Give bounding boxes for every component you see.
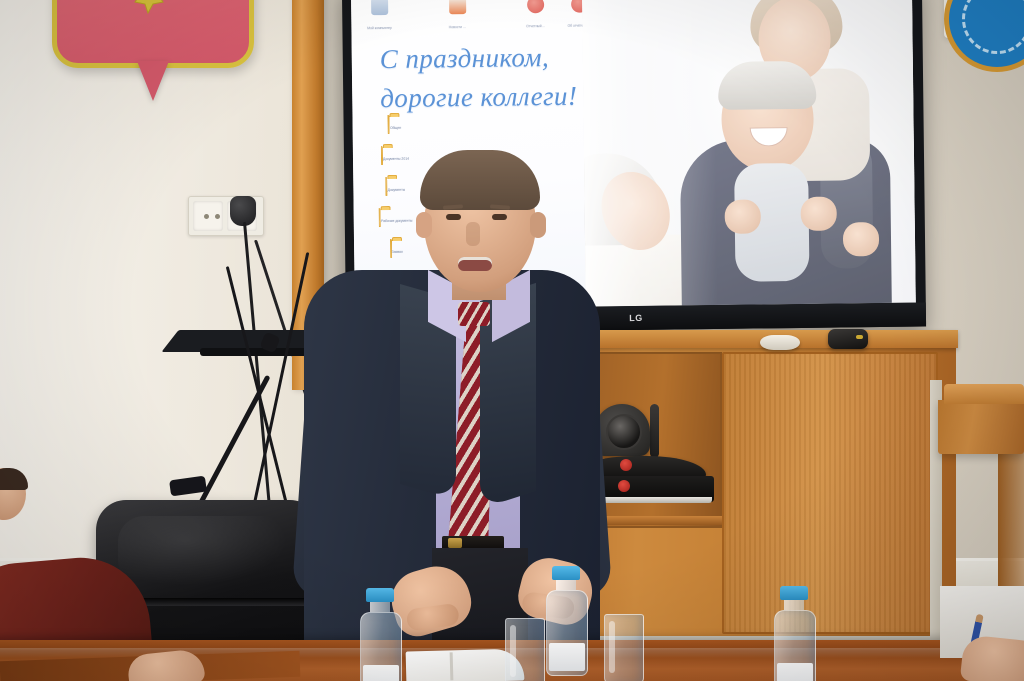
black-remote-control[interactable] xyxy=(828,329,868,349)
bottle-label xyxy=(549,643,585,671)
pdf-icon xyxy=(527,0,544,13)
speaker-mouth xyxy=(458,257,492,271)
computer-icon xyxy=(371,0,388,15)
desktop-icon[interactable]: Новости … xyxy=(437,0,478,33)
bottle-body xyxy=(774,610,816,681)
socket-outlet-left[interactable] xyxy=(193,201,223,231)
drinking-glass[interactable] xyxy=(505,618,545,681)
belt-buckle xyxy=(448,538,462,548)
document-icon xyxy=(449,0,466,14)
socket-pin xyxy=(204,214,209,219)
speaker-nose xyxy=(466,222,480,246)
speaker-ear xyxy=(416,212,432,238)
speaker-eye xyxy=(492,214,507,220)
folder-label: Общее xyxy=(390,126,401,130)
bottle-body xyxy=(360,612,402,681)
camera-mount-arm xyxy=(650,404,659,458)
cabinet-door-panel[interactable] xyxy=(722,352,938,634)
speaker-ear xyxy=(530,212,546,238)
desktop-icon[interactable]: Мой компьютер xyxy=(359,0,400,34)
wooden-lectern-top xyxy=(944,384,1024,404)
slide-family-photo xyxy=(582,0,916,307)
bottle-cap xyxy=(780,586,808,600)
desktop-icon-label: Мой компьютер xyxy=(367,26,392,30)
water-bottle[interactable] xyxy=(546,566,586,676)
russian-coat-of-arms-plaque xyxy=(52,0,254,68)
bottle-label xyxy=(363,665,399,681)
desktop-folder[interactable]: Общее xyxy=(388,116,401,134)
double-headed-eagle-icon xyxy=(88,0,218,25)
polycom-logo-icon xyxy=(620,459,632,471)
camera-lens-icon xyxy=(606,414,642,450)
desktop-icon-label: Новости … xyxy=(449,25,467,29)
lg-logo: LG xyxy=(629,313,643,323)
water-bottle[interactable] xyxy=(360,588,400,681)
conference-room-photo: Мой компьютер Новости … Отчетный… Об отч… xyxy=(0,0,1024,681)
desktop-icon-label: Отчетный… xyxy=(526,24,545,28)
white-computer-mouse[interactable] xyxy=(760,335,800,350)
drinking-glass[interactable] xyxy=(604,614,644,681)
seated-attendee-right-hand xyxy=(960,634,1024,681)
bottle-neck xyxy=(784,600,804,610)
water-bottle[interactable] xyxy=(774,586,814,681)
polycom-logo-icon xyxy=(618,480,630,492)
photo-brightness-wash xyxy=(582,0,916,307)
socket-pin xyxy=(215,214,220,219)
bottle-label xyxy=(777,663,813,681)
bottle-body xyxy=(546,590,588,676)
necktie-knot xyxy=(458,302,490,326)
bottle-cap xyxy=(366,588,394,602)
bottle-neck xyxy=(370,602,390,612)
chair-highlight xyxy=(118,516,288,586)
speaker-eye xyxy=(446,214,461,220)
wooden-lectern-body xyxy=(938,400,1024,454)
bottle-cap xyxy=(552,566,580,580)
desktop-icon[interactable]: Отчетный… xyxy=(515,0,556,32)
bottle-neck xyxy=(556,580,576,590)
